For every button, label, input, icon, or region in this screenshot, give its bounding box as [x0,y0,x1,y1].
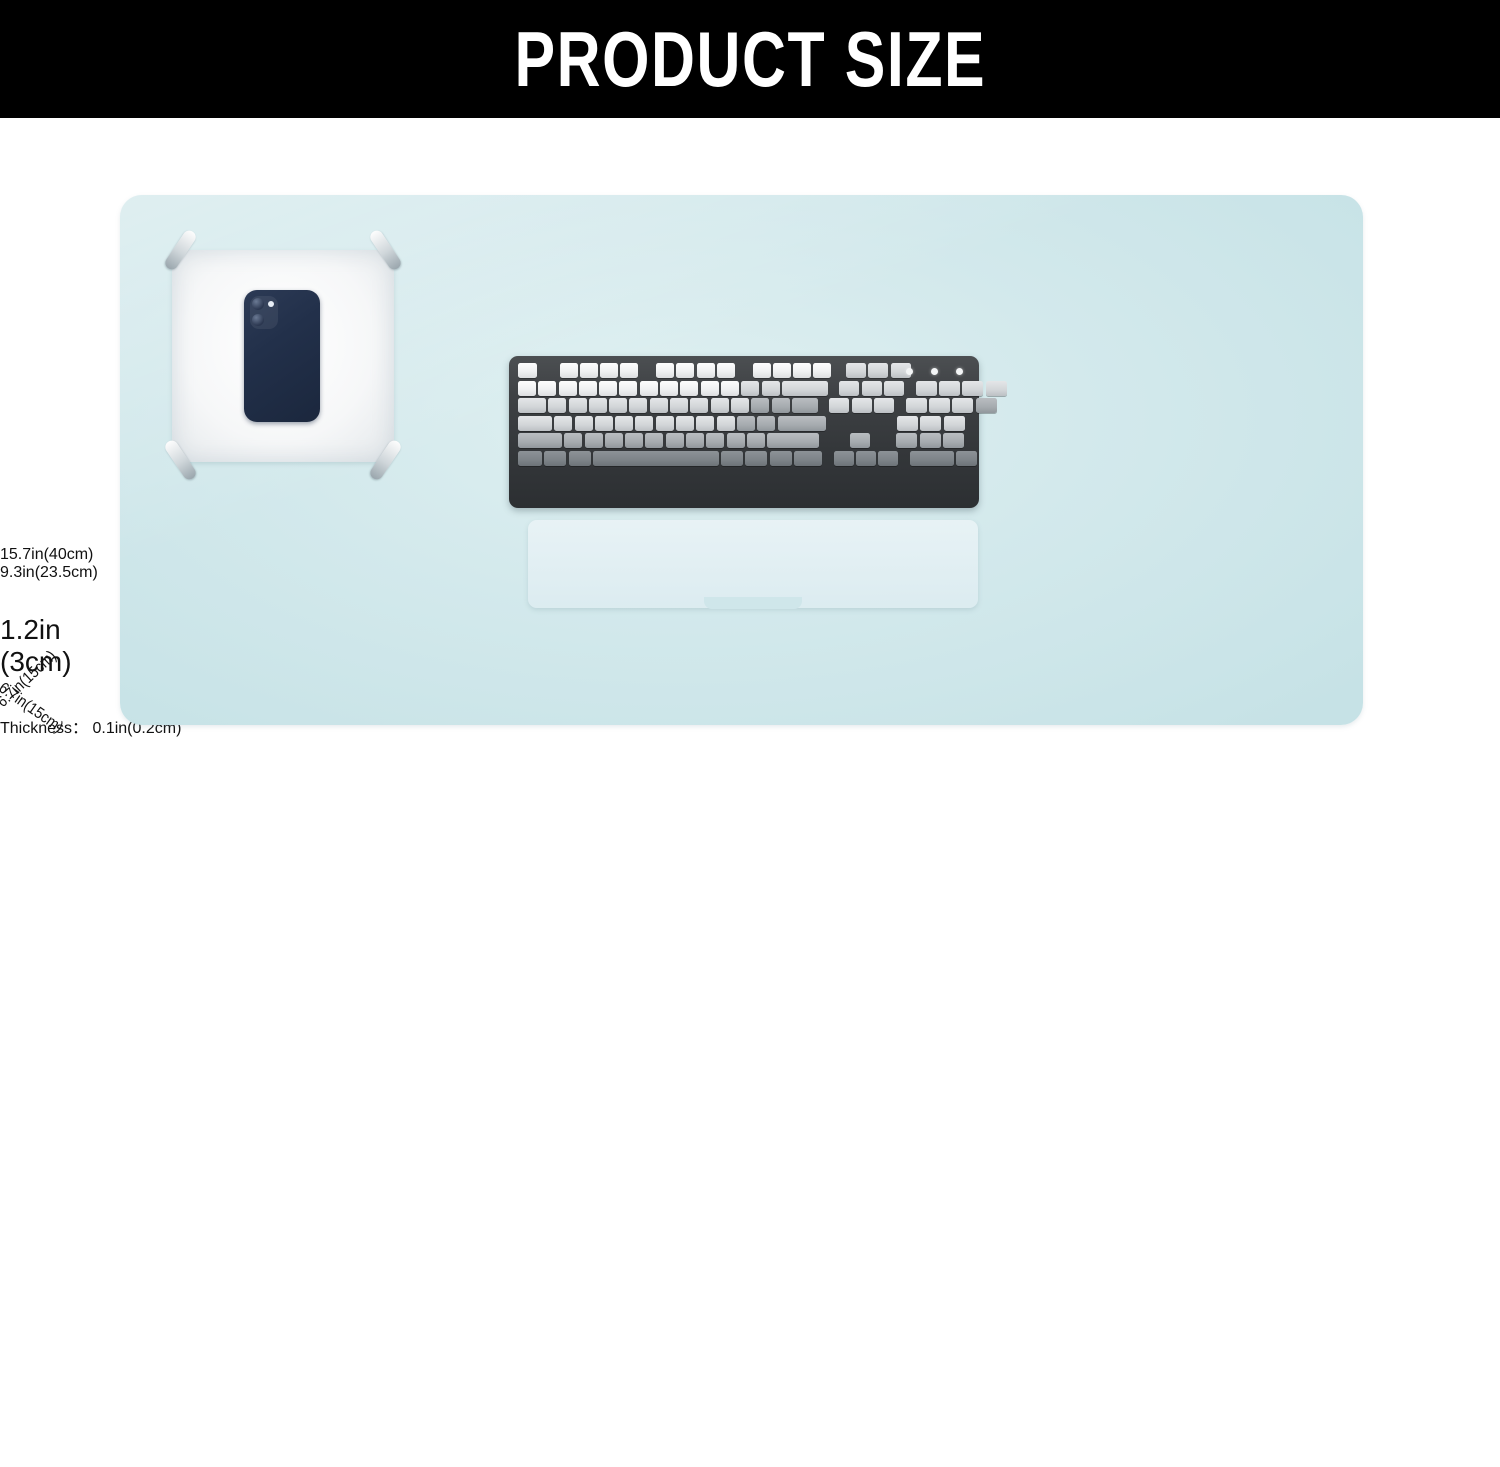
led-indicator-icon [956,368,963,375]
led-indicator-icon [906,368,913,375]
keyboard-indicator-leds [906,368,963,375]
keyboard-row-number [518,381,970,396]
phone-camera-module [250,296,278,329]
camera-flash-icon [268,301,274,307]
keyboard-row-shift [518,433,970,448]
camera-lens-icon [252,314,264,326]
wrist-rest-notch [704,597,802,609]
keyboard-row-function [518,363,970,378]
keyboard [509,356,979,508]
phone-navy [244,290,320,422]
keyboard-row-qwerty [518,398,970,413]
gaming-mouse [1140,404,1238,528]
keyboard-row-home [518,416,970,431]
led-indicator-icon [931,368,938,375]
keyboard-row-bottom [518,451,970,466]
tray-left-label: 6.7in(15cm) [0,680,1086,1452]
page-title: PRODUCT SIZE [514,20,986,98]
camera-lens-icon [252,298,264,310]
wrist-rest [528,520,978,608]
mouse-body [1148,404,1230,522]
